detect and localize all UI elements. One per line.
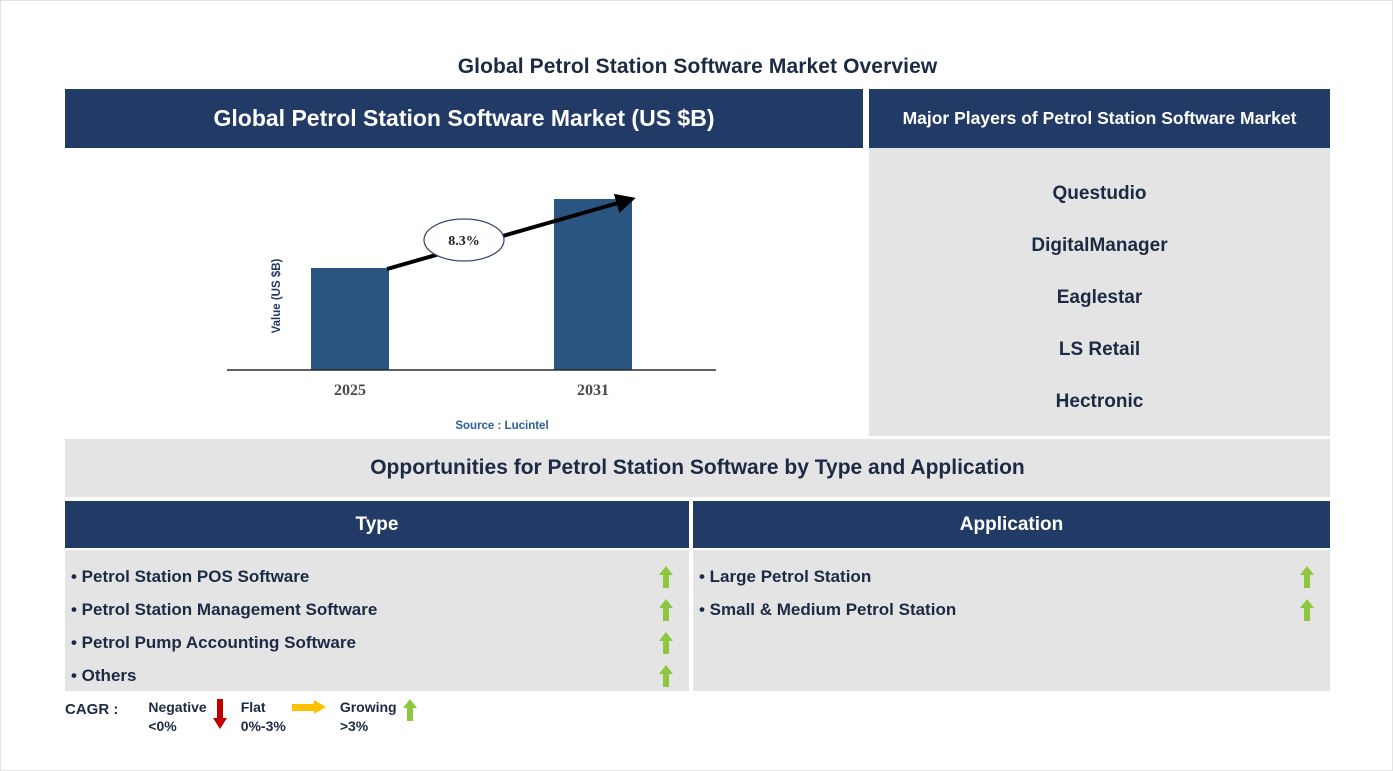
- y-axis-title: Value (US $B): [271, 258, 283, 333]
- x-tick-2025: 2025: [334, 382, 366, 399]
- legend-negative-range: <0%: [148, 718, 176, 734]
- down-arrow-icon-wrap: [207, 698, 235, 729]
- up-arrow-icon: [659, 665, 673, 687]
- growth-arrow-cell: [1284, 566, 1330, 588]
- x-tick-2031: 2031: [577, 382, 609, 399]
- cagr-legend: CAGR : Negative <0% Flat 0%-3% Growing >…: [65, 698, 485, 748]
- legend-negative-label: Negative: [148, 699, 206, 715]
- chart-svg: Value (US $B) 8.3% 2025 2031 Source : Lu…: [65, 148, 863, 436]
- list-item: • Others: [65, 659, 689, 692]
- player-name: DigitalManager: [1031, 235, 1167, 257]
- growth-arrow-cell: [643, 599, 689, 621]
- legend-growing-text: Growing >3%: [340, 698, 397, 736]
- list-item: DigitalManager: [869, 220, 1330, 272]
- legend-growing-range: >3%: [340, 718, 368, 734]
- type-item-label: • Petrol Station POS Software: [71, 567, 643, 587]
- list-item: • Small & Medium Petrol Station: [693, 593, 1330, 626]
- legend-entry-flat: Flat 0%-3%: [241, 698, 334, 736]
- cagr-value: 8.3%: [448, 234, 480, 249]
- player-name: Hectronic: [1056, 391, 1144, 413]
- application-column-header: Application: [693, 501, 1330, 548]
- type-item-label: • Petrol Station Management Software: [71, 600, 643, 620]
- list-item: • Petrol Pump Accounting Software: [65, 626, 689, 659]
- player-name: Questudio: [1053, 183, 1147, 205]
- chart-source: Source : Lucintel: [455, 420, 548, 432]
- up-arrow-icon: [659, 632, 673, 654]
- growth-arrow-cell: [643, 665, 689, 687]
- chart-panel-header: Global Petrol Station Software Market (U…: [65, 89, 863, 148]
- legend-entry-negative: Negative <0%: [148, 698, 234, 736]
- growth-arrow-cell: [1284, 599, 1330, 621]
- up-arrow-icon: [659, 566, 673, 588]
- legend-flat-text: Flat 0%-3%: [241, 698, 286, 736]
- list-item: Questudio: [869, 168, 1330, 220]
- legend-entry-growing: Growing >3%: [340, 698, 425, 736]
- type-column-header: Type: [65, 501, 689, 548]
- right-arrow-icon-wrap: [286, 698, 334, 715]
- legend-flat-label: Flat: [241, 699, 266, 715]
- up-arrow-icon: [659, 599, 673, 621]
- type-item-label: • Petrol Pump Accounting Software: [71, 633, 643, 653]
- application-item-label: • Small & Medium Petrol Station: [699, 600, 1284, 620]
- list-item: Hectronic: [869, 376, 1330, 428]
- up-arrow-icon: [1300, 566, 1314, 588]
- type-list: • Petrol Station POS Software • Petrol S…: [65, 550, 689, 691]
- list-item: LS Retail: [869, 324, 1330, 376]
- legend-growing-label: Growing: [340, 699, 397, 715]
- application-list: • Large Petrol Station • Small & Medium …: [693, 550, 1330, 691]
- application-item-label: • Large Petrol Station: [699, 567, 1284, 587]
- list-item: Eaglestar: [869, 272, 1330, 324]
- legend-negative-text: Negative <0%: [148, 698, 206, 736]
- infographic-page: Global Petrol Station Software Market Ov…: [0, 0, 1393, 771]
- player-name: LS Retail: [1059, 339, 1140, 361]
- bar-2031: [554, 199, 632, 370]
- legend-flat-range: 0%-3%: [241, 718, 286, 734]
- up-arrow-icon-wrap: [397, 698, 425, 721]
- opportunities-banner: Opportunities for Petrol Station Softwar…: [65, 439, 1330, 497]
- cagr-legend-title: CAGR :: [65, 698, 118, 720]
- major-players-header: Major Players of Petrol Station Software…: [869, 89, 1330, 148]
- bar-2025: [311, 268, 389, 370]
- growth-arrow-cell: [643, 566, 689, 588]
- market-bar-chart: Value (US $B) 8.3% 2025 2031 Source : Lu…: [65, 148, 863, 436]
- type-item-label: • Others: [71, 666, 643, 686]
- down-arrow-icon: [213, 699, 227, 729]
- right-arrow-icon: [292, 699, 326, 715]
- up-arrow-icon: [403, 699, 417, 721]
- page-title: Global Petrol Station Software Market Ov…: [1, 55, 1393, 79]
- up-arrow-icon: [1300, 599, 1314, 621]
- list-item: • Petrol Station Management Software: [65, 593, 689, 626]
- major-players-list: Questudio DigitalManager Eaglestar LS Re…: [869, 148, 1330, 436]
- player-name: Eaglestar: [1057, 287, 1143, 309]
- list-item: • Petrol Station POS Software: [65, 560, 689, 593]
- growth-arrow-cell: [643, 632, 689, 654]
- list-item: • Large Petrol Station: [693, 560, 1330, 593]
